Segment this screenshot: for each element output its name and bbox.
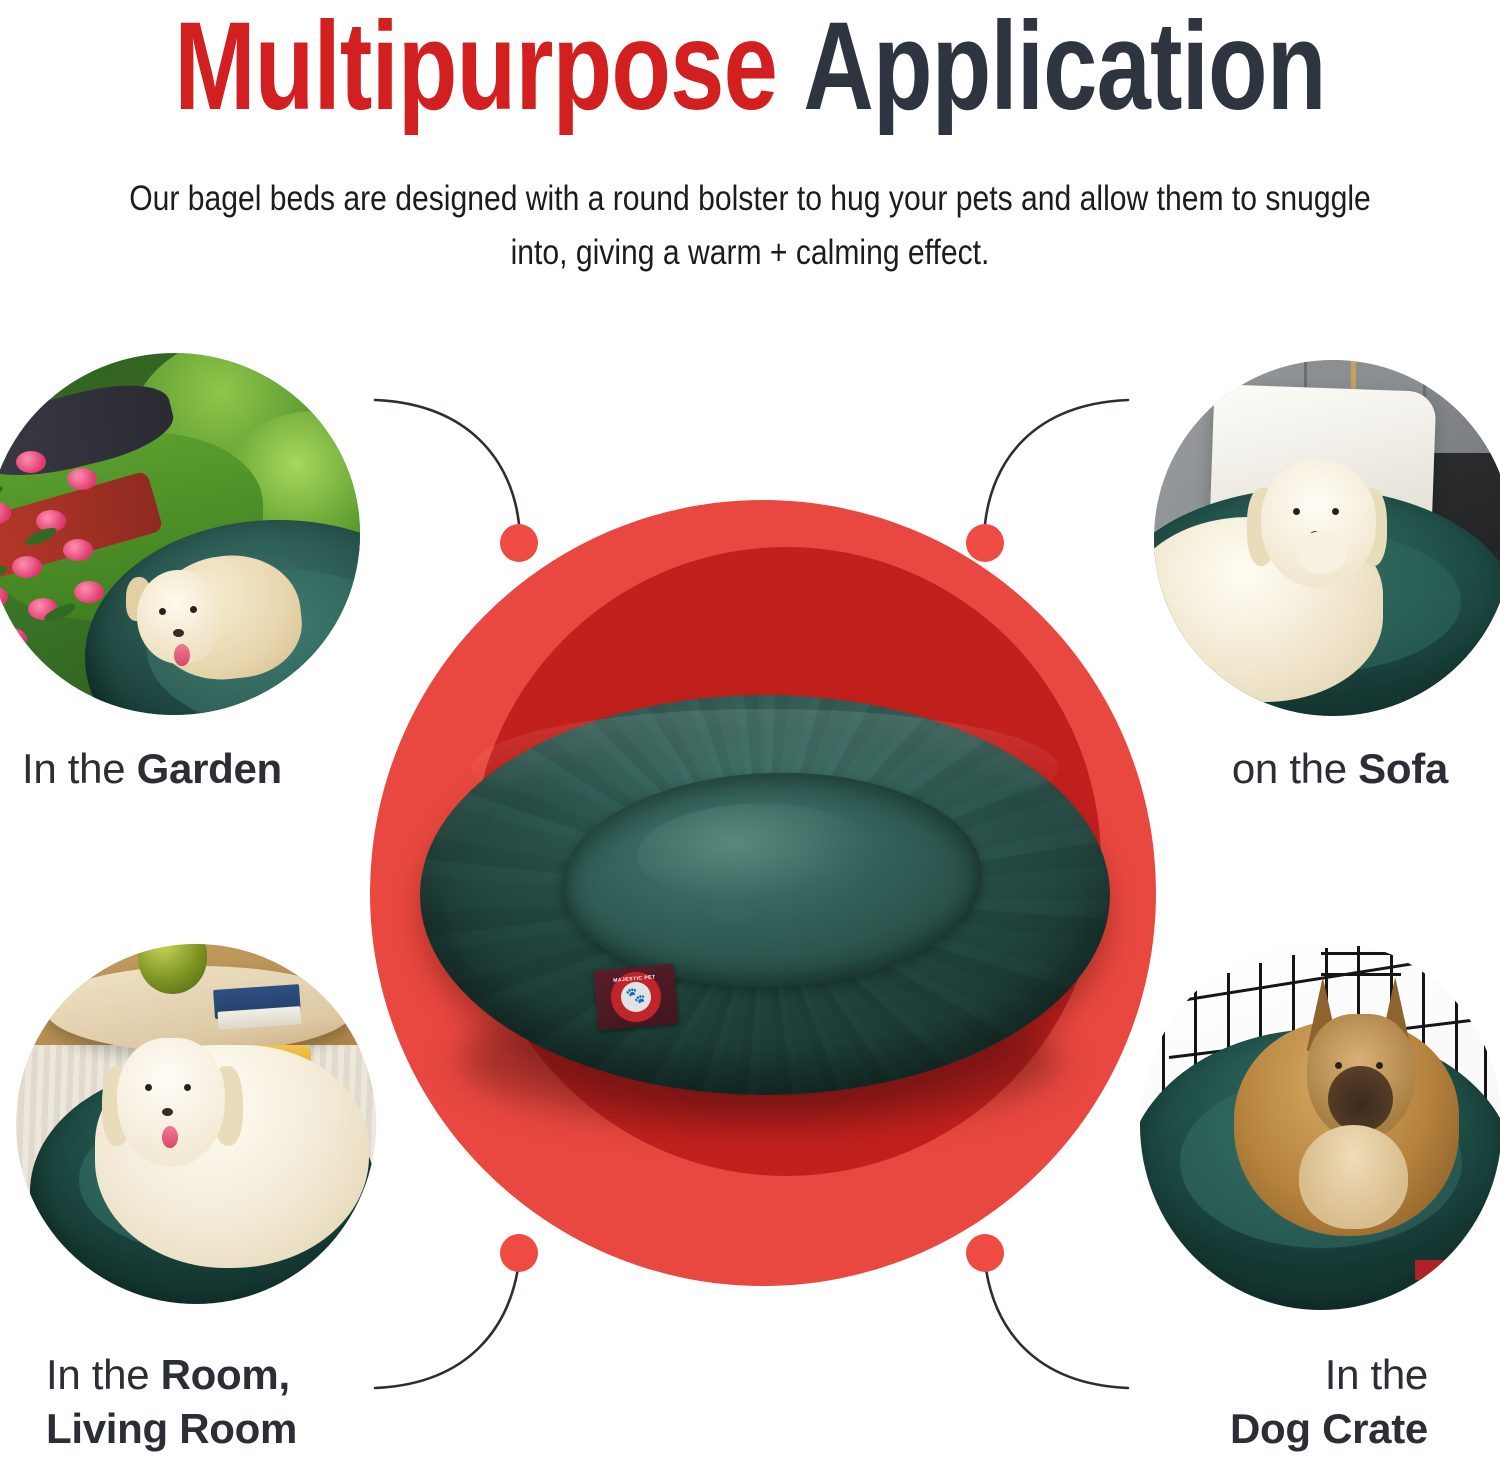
photo-circle-dog-crate [1140, 940, 1500, 1310]
photo-circle-garden [0, 353, 360, 715]
callout-label-living-room-line2-emphasis: Living Room [46, 1405, 297, 1452]
callout-label-dog-crate: In the Dog Crate [1230, 1348, 1428, 1456]
dog-crate-scene [1140, 940, 1500, 1310]
sofa-dog-muzzle [1297, 531, 1347, 574]
page-title: Multipurpose Application [165, 4, 1335, 129]
center-product-stage: MAJESTIC PET 🐾 [370, 500, 1156, 1286]
sofa-dog-eye-right [1332, 508, 1339, 515]
brand-tag: MAJESTIC PET 🐾 [594, 964, 679, 1031]
callout-label-garden: In the Garden [22, 742, 282, 796]
living-room-dog-eye-left [145, 1084, 152, 1091]
connector-dot-garden [500, 524, 538, 562]
living-room-scene [16, 944, 376, 1304]
connector-dot-dog-crate [966, 1234, 1004, 1272]
product-image-bagel-dog-bed: MAJESTIC PET 🐾 [420, 695, 1110, 1125]
garden-dog-eye-right [190, 606, 197, 613]
living-room-dog-tongue [162, 1126, 178, 1148]
connector-dot-sofa [966, 524, 1004, 562]
callout-label-dog-crate-line2: Dog Crate [1230, 1402, 1428, 1456]
dog-crate-bed-brand-tag [1415, 1260, 1450, 1281]
page-title-part2: Application [803, 0, 1325, 136]
garden-dog-nose [173, 629, 184, 637]
cushion-sheen [635, 799, 873, 906]
page-title-part1: Multipurpose [174, 0, 777, 136]
connector-dot-living-room [500, 1234, 538, 1272]
callout-label-sofa-prefix: on the [1232, 745, 1358, 792]
photo-circle-living-room [16, 944, 376, 1304]
callout-label-dog-crate-line2-emphasis: Dog Crate [1230, 1405, 1428, 1452]
living-room-dog-eye-right [184, 1084, 191, 1091]
callout-label-garden-prefix: In the [22, 745, 137, 792]
paw-print-icon: 🐾 [620, 981, 653, 1014]
living-room-dog-head [117, 1038, 225, 1168]
callout-label-garden-emphasis: Garden [137, 745, 282, 792]
photo-circle-sofa [1154, 360, 1500, 716]
brand-badge: MAJESTIC PET 🐾 [609, 970, 663, 1024]
garden-dog-eye-left [159, 608, 166, 615]
callout-label-living-room: In the Room, Living Room [46, 1348, 297, 1456]
callout-label-dog-crate-line1: In the [1230, 1348, 1428, 1402]
callout-label-living-room-line1: In the Room, [46, 1348, 297, 1402]
infographic-page: Multipurpose Application Our bagel beds … [0, 0, 1500, 1471]
garden-scene [0, 353, 360, 715]
dog-crate-dog-eye-right [1376, 1062, 1383, 1069]
living-room-dog-nose [162, 1108, 173, 1116]
callout-label-living-room-prefix: In the [46, 1351, 161, 1398]
callout-label-sofa-emphasis: Sofa [1358, 745, 1448, 792]
callout-label-sofa: on the Sofa [1232, 742, 1448, 796]
dog-crate-dog-chest [1299, 1125, 1408, 1229]
sofa-scene [1154, 360, 1500, 716]
garden-dog-tongue [174, 644, 190, 666]
callout-label-dog-crate-prefix: In the [1325, 1351, 1428, 1398]
dog-crate-dog-eye-left [1335, 1062, 1342, 1069]
page-subtitle: Our bagel beds are designed with a round… [122, 172, 1378, 281]
callout-label-living-room-emphasis: Room, [161, 1351, 290, 1398]
garden-dog-head [137, 570, 223, 664]
callout-label-living-room-line2: Living Room [46, 1402, 297, 1456]
sofa-dog-eye-left [1293, 508, 1300, 515]
